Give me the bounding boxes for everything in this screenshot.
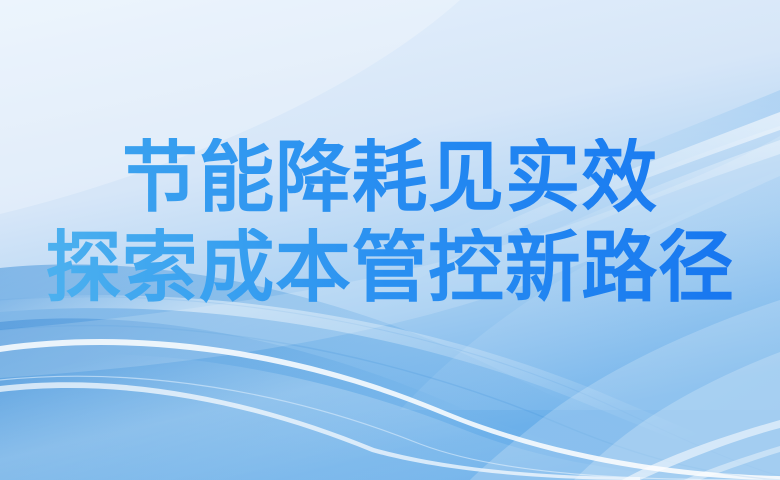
headline-block: 节能降耗见实效 探索成本管控新路径 (0, 138, 780, 306)
headline-line-2: 探索成本管控新路径 (12, 228, 769, 306)
banner-graphic: 节能降耗见实效 探索成本管控新路径 (0, 0, 780, 480)
headline-line-1: 节能降耗见实效 (12, 138, 769, 216)
